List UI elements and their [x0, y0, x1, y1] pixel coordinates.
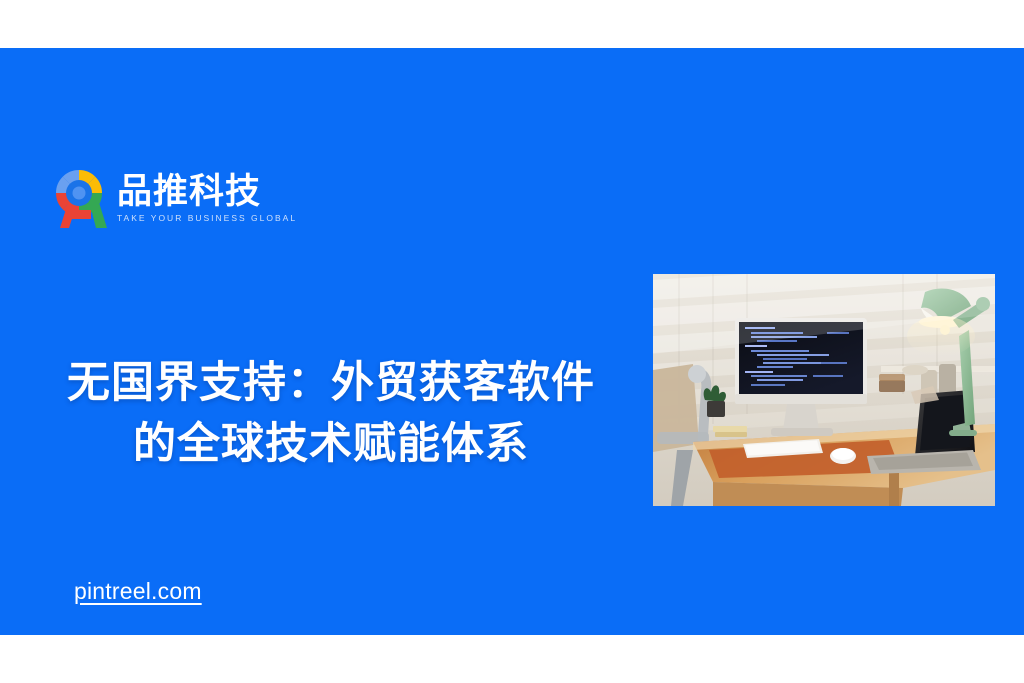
office-desk-photo — [653, 274, 995, 506]
website-url-link[interactable]: pintreel.com — [74, 576, 202, 606]
pintreel-logo-mark-icon — [50, 166, 108, 228]
slide-canvas: 品推科技 TAKE YOUR BUSINESS GLOBAL 无国界支持：外贸获… — [0, 0, 1024, 683]
page-title-line-1: 无国界支持：外贸获客软件 — [26, 353, 636, 414]
page-title: 无国界支持：外贸获客软件 的全球技术赋能体系 — [26, 353, 636, 475]
brand-wordmark: 品推科技 TAKE YOUR BUSINESS GLOBAL — [117, 171, 297, 224]
brand-logo[interactable]: 品推科技 TAKE YOUR BUSINESS GLOBAL — [50, 166, 297, 228]
brand-name-cn: 品推科技 — [117, 173, 297, 211]
page-title-line-2: 的全球技术赋能体系 — [26, 414, 636, 475]
blue-banner: 品推科技 TAKE YOUR BUSINESS GLOBAL 无国界支持：外贸获… — [0, 48, 1024, 635]
brand-tagline: TAKE YOUR BUSINESS GLOBAL — [117, 212, 297, 224]
